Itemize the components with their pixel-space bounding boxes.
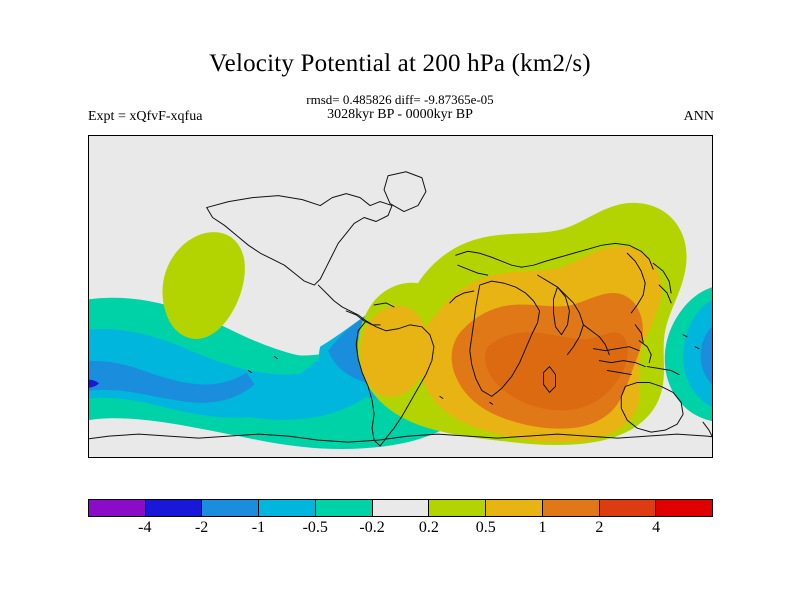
xtick-minor-160E [679,457,680,458]
colorbar-swatch-2 [202,500,259,516]
xtick-top-minor-100E [575,135,576,136]
ytick-minor-20S [88,333,89,334]
ytick-minor-20N [88,262,89,263]
xtick-top-60E [506,135,507,136]
velocity-potential-contour-map [89,136,712,457]
colorbar-swatch-10 [656,500,712,516]
xtick-minor-80E [540,457,541,458]
xtick-top-minor-160E [679,135,680,136]
colorbar-swatch-4 [316,500,373,516]
ytick-right-40S [712,365,713,366]
colorbar-swatch-7 [486,500,543,516]
colorbar-label--0.5: -0.5 [303,519,328,537]
xtick-top-minor-80E [540,135,541,136]
colorbar[interactable]: -4-2-1-0.5-0.20.20.5124 [88,499,713,517]
ytick-right-40N [712,230,713,231]
ytick-right-0 [712,298,713,299]
xtick-minor-100W [228,457,229,458]
xtick-top-60W [297,135,298,136]
colorbar-swatch-5 [373,500,430,516]
xtick-top-minor-20E [436,135,437,136]
experiment-label: Expt = xQfvF-xqfua [88,109,202,125]
xtick-minor-20E [436,457,437,458]
ytick-40S [88,365,89,366]
map-plot-area[interactable]: 80N 40N 0 40S 80S 180 120W 60W 0 60E 120… [88,135,713,458]
xtick-top-minor-100W [228,135,229,136]
ytick-80N [88,159,89,160]
xtick-top-minor-40E [471,135,472,136]
xtick-top-0 [402,135,403,136]
ytick-0 [88,298,89,299]
season-label: ANN [684,109,714,125]
ytick-right-80N [712,159,713,160]
xtick-60E [506,457,507,458]
colorbar-label-1: 1 [539,519,547,537]
ytick-right-minor-20S [712,333,713,334]
page-title: Velocity Potential at 200 hPa (km2/s) [0,50,800,78]
xtick-minor-140W [158,457,159,458]
xtick-180W [89,457,90,458]
ytick-40N [88,230,89,231]
colorbar-swatch-8 [543,500,600,516]
colorbar-label--4: -4 [138,519,151,537]
xtick-minor-160W [124,457,125,458]
xtick-minor-40E [471,457,472,458]
xtick-top-180W [89,135,90,136]
colorbar-swatch-6 [429,500,486,516]
xtick-120W [193,457,194,458]
xtick-top-120E [610,135,611,136]
colorbar-label--2: -2 [195,519,208,537]
xtick-top-minor-80W [263,135,264,136]
ytick-right-80S [712,437,713,438]
colorbar-swatch-0 [89,500,146,516]
colorbar-swatch-3 [259,500,316,516]
ytick-minor-60N [88,194,89,195]
ytick-80S [88,437,89,438]
ytick-right-minor-60N [712,194,713,195]
xtick-minor-100E [575,457,576,458]
statistics-line: rmsd= 0.485826 diff= -9.87365e-05 [0,92,800,108]
xtick-0 [402,457,403,458]
xtick-120E [610,457,611,458]
colorbar-label-4: 4 [652,519,660,537]
xtick-60W [297,457,298,458]
xtick-minor-20W [367,457,368,458]
colorbar-swatch-1 [146,500,203,516]
colorbar-label--0.2: -0.2 [359,519,384,537]
colorbar-label-0.2: 0.2 [419,519,439,537]
ytick-right-minor-60S [712,401,713,402]
colorbar-label--1: -1 [252,519,265,537]
xtick-top-minor-40W [332,135,333,136]
xtick-minor-40W [332,457,333,458]
xtick-minor-80W [263,457,264,458]
colorbar-swatches[interactable] [88,499,713,517]
xtick-top-minor-20W [367,135,368,136]
ytick-right-minor-20N [712,262,713,263]
xtick-minor-140E [645,457,646,458]
ytick-minor-60S [88,401,89,402]
xtick-top-minor-140W [158,135,159,136]
xtick-top-120W [193,135,194,136]
colorbar-label-2: 2 [595,519,603,537]
xtick-top-minor-160W [124,135,125,136]
xtick-top-minor-140E [645,135,646,136]
colorbar-label-0.5: 0.5 [476,519,496,537]
colorbar-swatch-9 [600,500,657,516]
